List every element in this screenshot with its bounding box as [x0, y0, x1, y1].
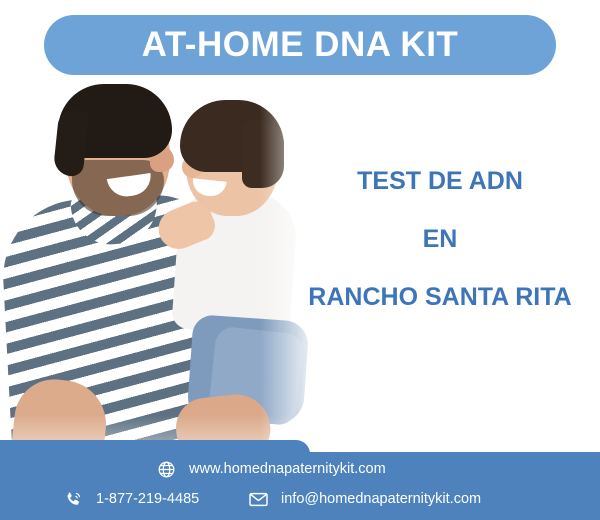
header-banner: AT-HOME DNA KIT	[0, 0, 600, 90]
footer-website[interactable]: www.homednapaternitykit.com	[155, 458, 386, 480]
footer-website-label: www.homednapaternitykit.com	[189, 461, 386, 477]
headline-line-3: RANCHO SANTA RITA	[300, 283, 580, 312]
photo-right-fade	[260, 80, 330, 455]
globe-icon	[155, 458, 177, 480]
envelope-icon	[247, 488, 269, 510]
headline-line-2: EN	[300, 225, 580, 254]
family-photo	[0, 80, 330, 455]
footer-phone-label: 1-877-219-4485	[96, 491, 199, 507]
footer-contact-block: www.homednapaternitykit.com 1-877-219-44…	[0, 440, 600, 520]
poster-canvas: AT-HOME DNA KIT	[0, 0, 600, 520]
footer-email-label: info@homednapaternitykit.com	[281, 491, 481, 507]
family-photo-illustration	[0, 80, 330, 455]
page-title: AT-HOME DNA KIT	[44, 15, 556, 75]
headline-line-1: TEST DE ADN	[300, 167, 580, 196]
footer-phone[interactable]: 1-877-219-4485	[62, 488, 199, 510]
footer-email[interactable]: info@homednapaternitykit.com	[247, 488, 481, 510]
phone-icon	[62, 488, 84, 510]
